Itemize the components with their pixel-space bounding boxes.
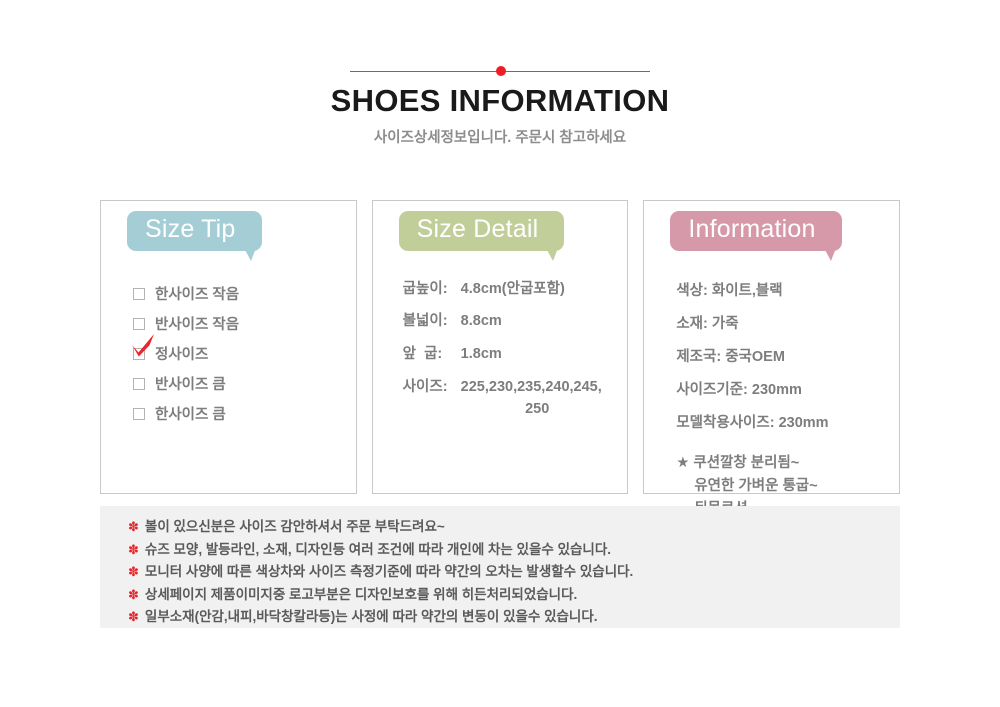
info-row: 소재: 가죽 [676,312,899,333]
detail-value: 225,230,235,240,245, 250 [461,377,608,421]
detail-label: 볼넓이: [403,311,461,333]
size-detail-bubble-label: Size Detail [399,211,565,251]
note-text: 모니터 사양에 따른 색상차와 사이즈 측정기준에 따라 약간의 오차는 발생할… [145,565,633,579]
info-row: 색상: 화이트,블랙 [676,279,899,300]
detail-value: 8.8cm [461,311,608,333]
note-text: 슈즈 모양, 발등라인, 소재, 디자인등 여러 조건에 따라 개인에 차는 있… [145,543,611,557]
note-bullet-icon: ✽ [128,565,139,578]
info-panels: Size Tip 한사이즈 작음 반사이즈 작음 정사이즈 [100,200,900,494]
list-item[interactable]: 정사이즈 [133,339,356,369]
shoes-information-page: SHOES INFORMATION 사이즈상세정보입니다. 주문시 참고하세요 … [0,0,1000,707]
highlight-line: ★ 쿠션깔창 분리됨~ [676,452,899,475]
detail-label: 굽높이: [403,279,461,301]
detail-row: 앞 굽: 1.8cm [403,344,608,366]
panel-size-detail: Size Detail 굽높이: 4.8cm(안굽포함) 볼넓이: 8.8cm … [372,200,629,494]
page-title: SHOES INFORMATION [0,83,1000,119]
note-text: 볼이 있으신분은 사이즈 감안하셔서 주문 부탁드려요~ [145,520,445,534]
list-item[interactable]: 한사이즈 작음 [133,279,356,309]
bubble-tail-icon [824,248,836,261]
note-text: 일부소재(안감,내피,바닥창칼라등)는 사정에 따라 약간의 변동이 있을수 있… [145,610,598,624]
information-bubble-label: Information [670,211,841,251]
size-tip-title: Size Tip [145,215,236,243]
list-item[interactable]: 한사이즈 큼 [133,399,356,429]
list-item-label: 정사이즈 [155,343,208,364]
information-title: Information [688,215,815,243]
note-text: 상세페이지 제품이미지중 로고부분은 디자인보호를 위해 히든처리되었습니다. [145,588,577,602]
bubble-tail-icon [244,248,256,261]
bubble-tail-icon [546,248,558,261]
checkbox-icon[interactable] [133,378,145,390]
sizes-line-1: 225,230,235,240,245, [461,379,602,395]
info-row: 사이즈기준: 230mm [676,378,899,399]
detail-label: 사이즈: [403,377,461,399]
size-detail-list: 굽높이: 4.8cm(안굽포함) 볼넓이: 8.8cm 앞 굽: 1.8cm 사… [403,279,608,421]
note-bullet-icon: ✽ [128,543,139,556]
list-item-label: 반사이즈 큼 [155,373,226,394]
note-line: ✽ 상세페이지 제품이미지중 로고부분은 디자인보호를 위해 히든처리되었습니다… [128,588,900,602]
detail-value: 1.8cm [461,344,608,366]
title-divider [350,71,650,73]
panel-information: Information 색상: 화이트,블랙 소재: 가죽 제조국: 중국OEM… [643,200,900,494]
list-item-label: 한사이즈 작음 [155,283,239,304]
page-subtitle: 사이즈상세정보입니다. 주문시 참고하세요 [0,126,1000,147]
checkbox-icon[interactable] [133,288,145,300]
info-row: 모델착용사이즈: 230mm [676,411,899,432]
detail-row-sizes: 사이즈: 225,230,235,240,245, 250 [403,377,608,421]
size-tip-bubble-label: Size Tip [127,211,262,251]
checkbox-icon[interactable] [133,408,145,420]
list-item-label: 한사이즈 큼 [155,403,226,424]
list-item[interactable]: 반사이즈 작음 [133,309,356,339]
note-bullet-icon: ✽ [128,520,139,533]
detail-row: 볼넓이: 8.8cm [403,311,608,333]
detail-value: 4.8cm(안굽포함) [461,279,608,301]
list-item-label: 반사이즈 작음 [155,313,239,334]
note-bullet-icon: ✽ [128,610,139,623]
info-row: 제조국: 중국OEM [676,345,899,366]
note-line: ✽ 슈즈 모양, 발등라인, 소재, 디자인등 여러 조건에 따라 개인에 차는… [128,543,900,557]
highlight-line: 유연한 가벼운 통굽~ [676,475,899,498]
information-list: 색상: 화이트,블랙 소재: 가죽 제조국: 중국OEM 사이즈기준: 230m… [676,279,899,522]
panel-size-tip: Size Tip 한사이즈 작음 반사이즈 작음 정사이즈 [100,200,357,494]
size-detail-title: Size Detail [417,215,539,243]
notes-box: ✽ 볼이 있으신분은 사이즈 감안하셔서 주문 부탁드려요~ ✽ 슈즈 모양, … [100,506,900,628]
detail-label: 앞 굽: [403,344,461,366]
size-tip-list: 한사이즈 작음 반사이즈 작음 정사이즈 반사이즈 큼 [133,279,356,429]
note-line: ✽ 모니터 사양에 따른 색상차와 사이즈 측정기준에 따라 약간의 오차는 발… [128,565,900,579]
note-line: ✽ 볼이 있으신분은 사이즈 감안하셔서 주문 부탁드려요~ [128,520,900,534]
checkbox-icon[interactable] [133,318,145,330]
accent-dot-icon [496,66,506,76]
sizes-line-2: 250 [461,399,608,421]
note-line: ✽ 일부소재(안감,내피,바닥창칼라등)는 사정에 따라 약간의 변동이 있을수… [128,610,900,624]
list-item[interactable]: 반사이즈 큼 [133,369,356,399]
detail-row: 굽높이: 4.8cm(안굽포함) [403,279,608,301]
notes-list: ✽ 볼이 있으신분은 사이즈 감안하셔서 주문 부탁드려요~ ✽ 슈즈 모양, … [100,506,900,624]
checkbox-icon[interactable] [133,348,145,360]
note-bullet-icon: ✽ [128,588,139,601]
